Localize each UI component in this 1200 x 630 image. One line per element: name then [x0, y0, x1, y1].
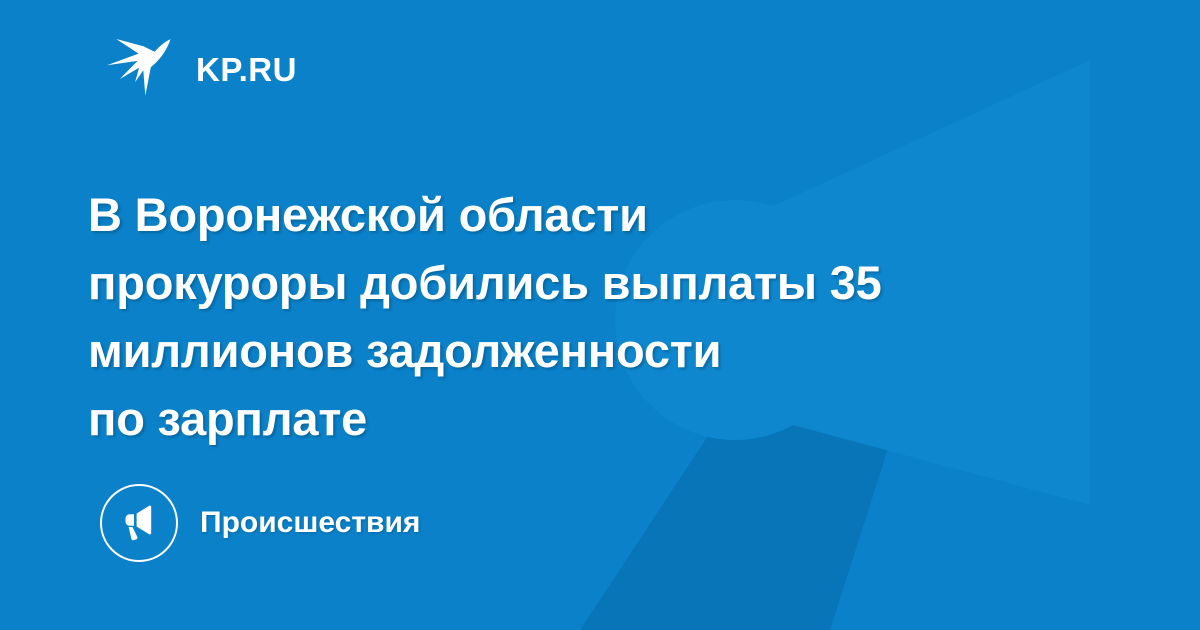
- brand-name: KP.RU: [196, 53, 297, 86]
- headline-line-3: миллионов задолженности: [88, 317, 1088, 385]
- headline-line-1: В Воронежской области: [88, 181, 1088, 249]
- headline-line-4: по зарплате: [88, 385, 1088, 453]
- megaphone-icon: [100, 484, 178, 562]
- headline: В Воронежской области прокуроры добились…: [88, 181, 1088, 453]
- swallow-bird-logo-icon: [104, 36, 178, 102]
- category-label: Происшествия: [200, 508, 420, 538]
- headline-line-2: прокуроры добились выплаты 35: [88, 249, 1088, 317]
- share-card: KP.RU В Воронежской области прокуроры до…: [0, 0, 1200, 630]
- brand-header: KP.RU: [104, 36, 297, 102]
- category-badge[interactable]: Происшествия: [100, 484, 420, 562]
